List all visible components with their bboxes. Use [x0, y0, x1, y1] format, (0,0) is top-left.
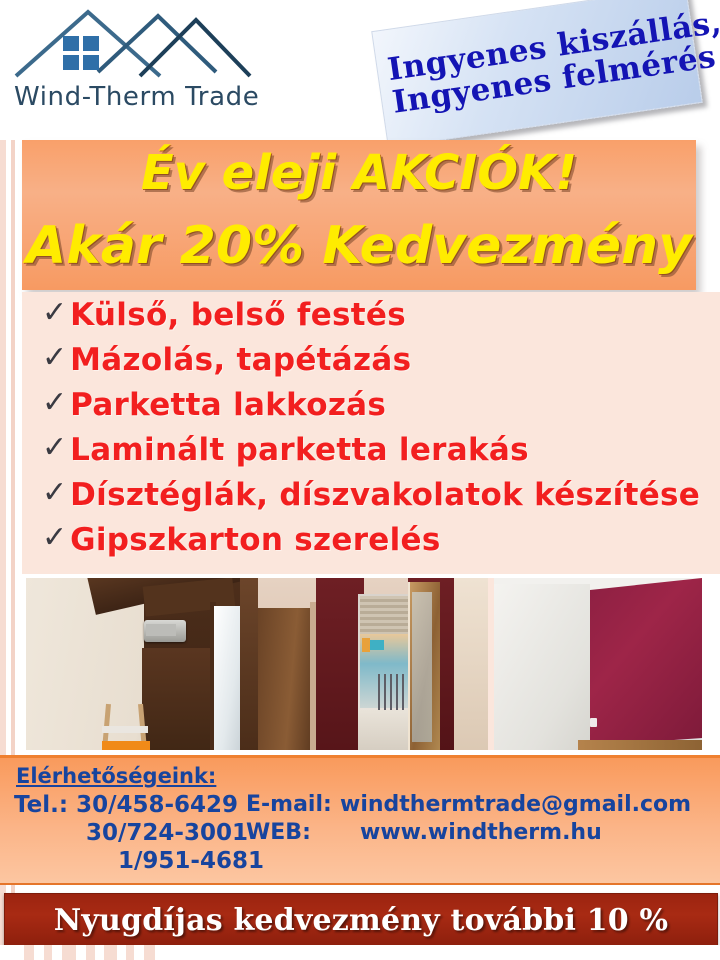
- company-logo: Wind-Therm Trade: [10, 4, 310, 130]
- email-address[interactable]: windthermtrade@gmail.com: [340, 792, 691, 817]
- list-item: ✓ Dísztéglák, díszvakolatok készítése: [22, 472, 720, 517]
- list-item: ✓ Mázolás, tapétázás: [22, 337, 720, 382]
- contact-heading: Elérhetőségeink:: [16, 764, 216, 788]
- photo-interior-room: [26, 578, 258, 750]
- phone-number-3[interactable]: 1/951-4681: [118, 848, 264, 874]
- tel-label: Tel.:: [14, 792, 68, 818]
- pensioner-discount-banner: Nyugdíjas kedvezmény további 10 %: [4, 893, 718, 947]
- list-item: ✓ Laminált parketta lerakás: [22, 427, 720, 472]
- photo-gallery: [26, 578, 702, 750]
- promo-headline: Év eleji AKCIÓK!: [22, 145, 696, 201]
- photo-accent-wall: [494, 578, 702, 750]
- phone-number-2[interactable]: 30/724-3001: [86, 820, 248, 846]
- list-item: ✓ Parketta lakkozás: [22, 382, 720, 427]
- checkmark-icon: ✓: [42, 478, 67, 508]
- service-label: Gipszkarton szerelés: [70, 522, 441, 558]
- email-label: E-mail:: [246, 792, 332, 817]
- services-list: ✓ Külső, belső festés ✓ Mázolás, tapétáz…: [22, 292, 720, 574]
- checkmark-icon: ✓: [42, 343, 67, 373]
- service-label: Laminált parketta lerakás: [70, 432, 529, 468]
- service-label: Külső, belső festés: [70, 297, 406, 333]
- web-label: WEB:: [246, 820, 311, 845]
- house-roof-window-logo-icon: [10, 4, 290, 90]
- list-item: ✓ Külső, belső festés: [22, 292, 720, 337]
- service-label: Mázolás, tapétázás: [70, 342, 411, 378]
- company-name: Wind-Therm Trade: [14, 82, 304, 112]
- pensioner-discount-text: Nyugdíjas kedvezmény további 10 %: [54, 903, 668, 938]
- promo-banner: Év eleji AKCIÓK! Akár 20% Kedvezmény: [22, 140, 696, 290]
- checkmark-icon: ✓: [42, 433, 67, 463]
- photo-hallway-door: [258, 578, 488, 750]
- checkmark-icon: ✓: [42, 388, 67, 418]
- checkmark-icon: ✓: [42, 298, 67, 328]
- page-bottom-margin: [0, 945, 720, 960]
- list-item: ✓ Gipszkarton szerelés: [22, 517, 720, 562]
- flyer-page: Wind-Therm Trade Ingyenes kiszállás, Ing…: [0, 0, 720, 960]
- phone-number-1[interactable]: 30/458-6429: [76, 792, 238, 818]
- phone-row-1[interactable]: Tel.: 30/458-6429: [14, 792, 238, 818]
- promo-subheadline: Akár 20% Kedvezmény: [22, 216, 696, 276]
- contact-panel: Elérhetőségeink: Tel.: 30/458-6429 30/72…: [0, 755, 720, 885]
- service-label: Parketta lakkozás: [70, 387, 386, 423]
- website-url[interactable]: www.windtherm.hu: [360, 820, 602, 845]
- checkmark-icon: ✓: [42, 523, 67, 553]
- service-label: Dísztéglák, díszvakolatok készítése: [70, 477, 700, 513]
